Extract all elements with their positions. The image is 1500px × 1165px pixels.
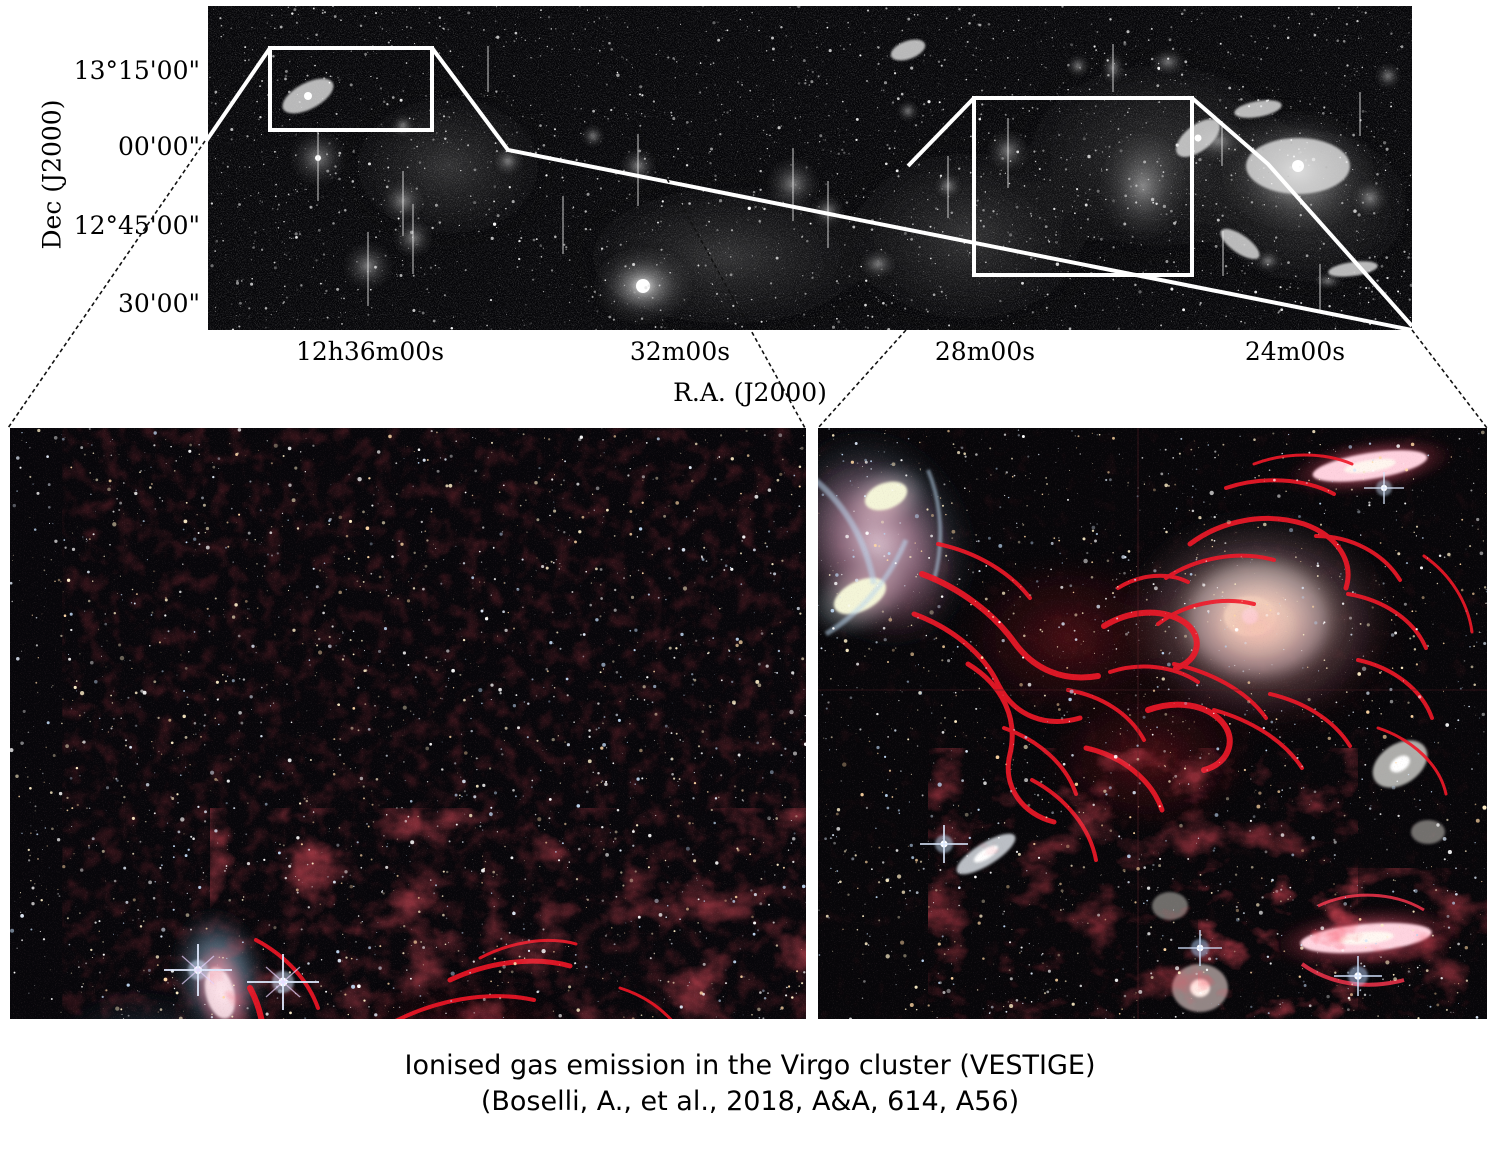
ra-tick-label-2: 28m00s	[905, 337, 1065, 366]
dec-tick-label-3: 30'00"	[118, 289, 200, 318]
caption-line-1: Ionised gas emission in the Virgo cluste…	[0, 1048, 1500, 1084]
dec-tick-label-2: 12°45'00"	[74, 211, 200, 240]
caption-line-2: (Boselli, A., et al., 2018, A&A, 614, A5…	[0, 1084, 1500, 1120]
dec-tick-label-1: 00'00"	[118, 132, 200, 161]
ra-tick-label-3: 24m00s	[1215, 337, 1375, 366]
zoom-panel-right-canvas	[818, 428, 1487, 1019]
dec-tick-label-0: 13°15'00"	[74, 56, 200, 85]
zoom-panel-left-canvas	[10, 428, 806, 1019]
dec-axis-title: Dec (J2000)	[38, 80, 67, 270]
survey-image-canvas	[208, 6, 1412, 330]
ra-axis-title: R.A. (J2000)	[660, 378, 840, 407]
virgo-cluster-survey-image	[208, 6, 1412, 330]
zoom-panel-left	[10, 428, 806, 1019]
zoom-panel-right	[818, 428, 1487, 1019]
figure-caption: Ionised gas emission in the Virgo cluste…	[0, 1048, 1500, 1121]
astronomy-figure: Dec (J2000) 13°15'00" 00'00" 12°45'00" 3…	[0, 0, 1500, 1165]
ra-tick-label-1: 32m00s	[600, 337, 760, 366]
ra-tick-label-0: 12h36m00s	[280, 337, 460, 366]
